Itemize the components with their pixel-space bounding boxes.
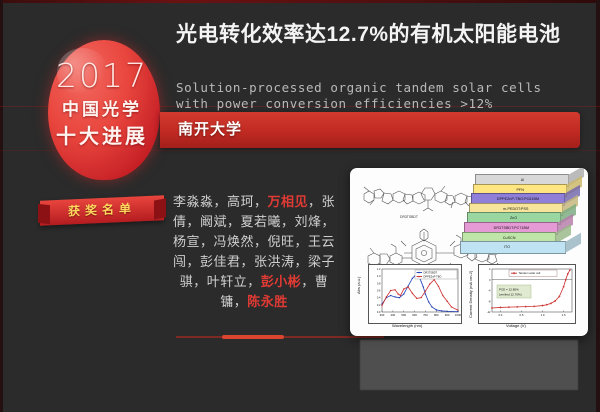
badge-year: 2017 [38, 56, 166, 95]
badge-line1: 中国光学 [38, 95, 166, 120]
author-list: 李淼淼，高珂，万相见，张倩，阚斌，夏若曦，刘烽，杨宣，冯焕然，倪旺，王云闯，彭佳… [168, 192, 340, 312]
frame-edge-left [0, 0, 3, 412]
svg-text:0.0: 0.0 [377, 310, 381, 314]
svg-text:400: 400 [391, 313, 396, 317]
jv-chart-svg: 0.00.51.01.540-4-8-12Tandem solar cellPC… [479, 265, 575, 323]
svg-text:1.0: 1.0 [541, 313, 545, 317]
award-badge: 2017 中国光学 十大进展 获奖名单 [38, 40, 166, 192]
svg-text:800: 800 [434, 313, 439, 317]
organization-bar: 南开大学 [160, 112, 580, 148]
subtitle-english: Solution-processed organic tandem solar … [176, 80, 588, 112]
author-name-group: 李淼淼，高珂， [173, 194, 268, 209]
svg-text:600: 600 [412, 313, 417, 317]
absorption-xlabel: Wavelength (nm) [392, 323, 422, 328]
badge-line2: 十大进展 [38, 120, 166, 149]
svg-text:1000: 1000 [455, 313, 461, 317]
subtitle-line-2: with power conversion efficiencies >12% [176, 96, 588, 112]
stack-layer-label: ITO [461, 242, 553, 253]
svg-text:(verified 12.70%): (verified 12.70%) [499, 293, 522, 297]
jv-ylabel: Current Density (mA cm-2) [468, 271, 473, 318]
author-name-highlighted: 陈永胜 [247, 294, 288, 309]
figure-reflection [360, 340, 578, 390]
badge-ribbon: 获奖名单 [40, 195, 164, 225]
jv-xlabel: Voltage (V) [506, 323, 526, 328]
svg-text:DR3TSBDT: DR3TSBDT [424, 270, 438, 274]
absorption-chart-svg: 30040050060070080090010000.00.20.40.60.8… [369, 265, 461, 323]
svg-text:0.6: 0.6 [377, 289, 381, 293]
svg-text:500: 500 [401, 313, 406, 317]
svg-text:700: 700 [423, 313, 428, 317]
subtitle-line-1: Solution-processed organic tandem solar … [176, 80, 588, 96]
svg-text:PCE = 12.80%: PCE = 12.80% [499, 288, 519, 292]
svg-text:-12: -12 [487, 310, 491, 314]
svg-text:1.0: 1.0 [377, 274, 381, 278]
jv-chart: 0.00.51.01.540-4-8-12Tandem solar cellPC… [478, 264, 576, 324]
svg-text:0.4: 0.4 [377, 296, 381, 300]
absorption-ylabel: Abs (a.u.) [356, 277, 361, 294]
absorption-chart: 30040050060070080090010000.00.20.40.60.8… [368, 264, 462, 324]
frame-edge-top [0, 0, 600, 3]
figure-reflection-surface [360, 340, 578, 390]
progress-bar-thumb[interactable] [222, 335, 284, 339]
figure-panel: DR3TSBDT D [350, 168, 588, 336]
svg-text:Tandem solar cell: Tandem solar cell [519, 271, 541, 275]
svg-text:1.2: 1.2 [377, 267, 381, 271]
frame-edge-right [596, 0, 600, 412]
svg-text:0.0: 0.0 [498, 313, 502, 317]
author-name-highlighted: 彭小彬 [261, 274, 302, 289]
svg-text:4: 4 [489, 267, 491, 271]
svg-text:-8: -8 [488, 299, 491, 303]
organization-name: 南开大学 [178, 112, 242, 148]
molecule-label-1: DR3TSBDT [400, 215, 418, 219]
svg-text:900: 900 [445, 313, 450, 317]
svg-text:-4: -4 [488, 289, 491, 293]
svg-text:DPPEZnP-TBO: DPPEZnP-TBO [424, 274, 442, 278]
svg-text:0.5: 0.5 [520, 313, 524, 317]
svg-text:1.5: 1.5 [562, 313, 566, 317]
svg-text:0: 0 [489, 278, 491, 282]
svg-text:0.8: 0.8 [377, 281, 381, 285]
progress-bar-track[interactable] [176, 336, 384, 338]
author-name-highlighted: 万相见 [267, 194, 308, 209]
device-stack-diagram: AlPFNDPPEZnP-TBO:PC61BMm-PEDOT:PSSZnODR3… [460, 174, 584, 256]
svg-text:0.2: 0.2 [377, 303, 381, 307]
page-title: 光电转化效率达12.7%的有机太阳能电池 [176, 20, 588, 50]
slide-canvas: 2017 中国光学 十大进展 获奖名单 光电转化效率达12.7%的有机太阳能电池… [0, 0, 600, 412]
badge-ribbon-label: 获奖名单 [40, 195, 164, 225]
stack-layer: ITO [460, 241, 566, 254]
